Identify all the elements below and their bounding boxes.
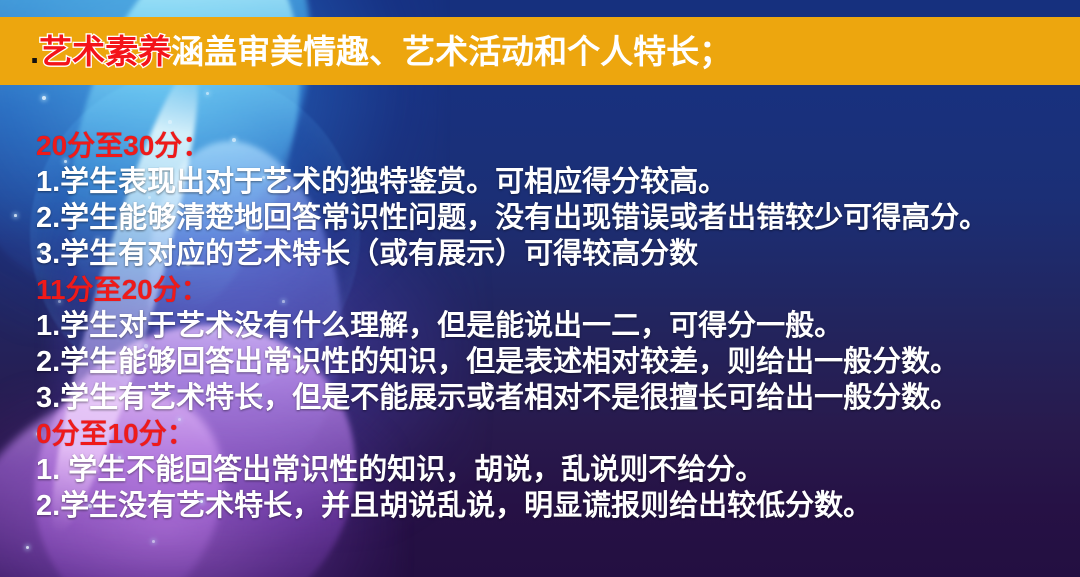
scoring-criteria-list: 20分至30分：1.学生表现出对于艺术的独特鉴赏。可相应得分较高。2.学生能够清… (36, 128, 1066, 524)
criteria-line: 3.学生有对应的艺术特长（或有展示）可得较高分数 (36, 236, 1066, 272)
criteria-line: 2.学生能够回答出常识性的知识，但是表述相对较差，则给出一般分数。 (36, 344, 1066, 380)
sparkle-dot (42, 96, 46, 100)
criteria-line: 1.学生表现出对于艺术的独特鉴赏。可相应得分较高。 (36, 164, 1066, 200)
criteria-line: 3.学生有艺术特长，但是不能展示或者相对不是很擅长可给出一般分数。 (36, 380, 1066, 416)
sparkle-dot (14, 214, 17, 217)
page-title: .艺术素养涵盖审美情趣、艺术活动和个人特长； (30, 35, 732, 68)
criteria-line: 1.学生对于艺术没有什么理解，但是能说出一二，可得分一般。 (36, 308, 1066, 344)
score-range-heading: 20分至30分： (36, 128, 1066, 164)
title-bullet: . (30, 33, 39, 70)
criteria-line: 1. 学生不能回答出常识性的知识，胡说，乱说则不给分。 (36, 452, 1066, 488)
score-range-heading: 11分至20分： (36, 272, 1066, 308)
criteria-line: 2.学生能够清楚地回答常识性问题，没有出现错误或者出错较少可得高分。 (36, 200, 1066, 236)
title-rest-text: 涵盖审美情趣、艺术活动和个人特长； (171, 33, 732, 70)
sparkle-dot (26, 546, 29, 549)
score-range-heading: 0分至10分： (36, 416, 1066, 452)
criteria-line: 2.学生没有艺术特长，并且胡说乱说，明显谎报则给出较低分数。 (36, 488, 1066, 524)
title-banner: .艺术素养涵盖审美情趣、艺术活动和个人特长； (0, 17, 1080, 85)
sparkle-dot (206, 92, 209, 95)
sparkle-dot (152, 540, 155, 543)
title-highlight-text: 艺术素养 (39, 33, 171, 70)
sparkle-dot (168, 120, 172, 124)
slide-canvas: .艺术素养涵盖审美情趣、艺术活动和个人特长； 20分至30分：1.学生表现出对于… (0, 0, 1080, 577)
